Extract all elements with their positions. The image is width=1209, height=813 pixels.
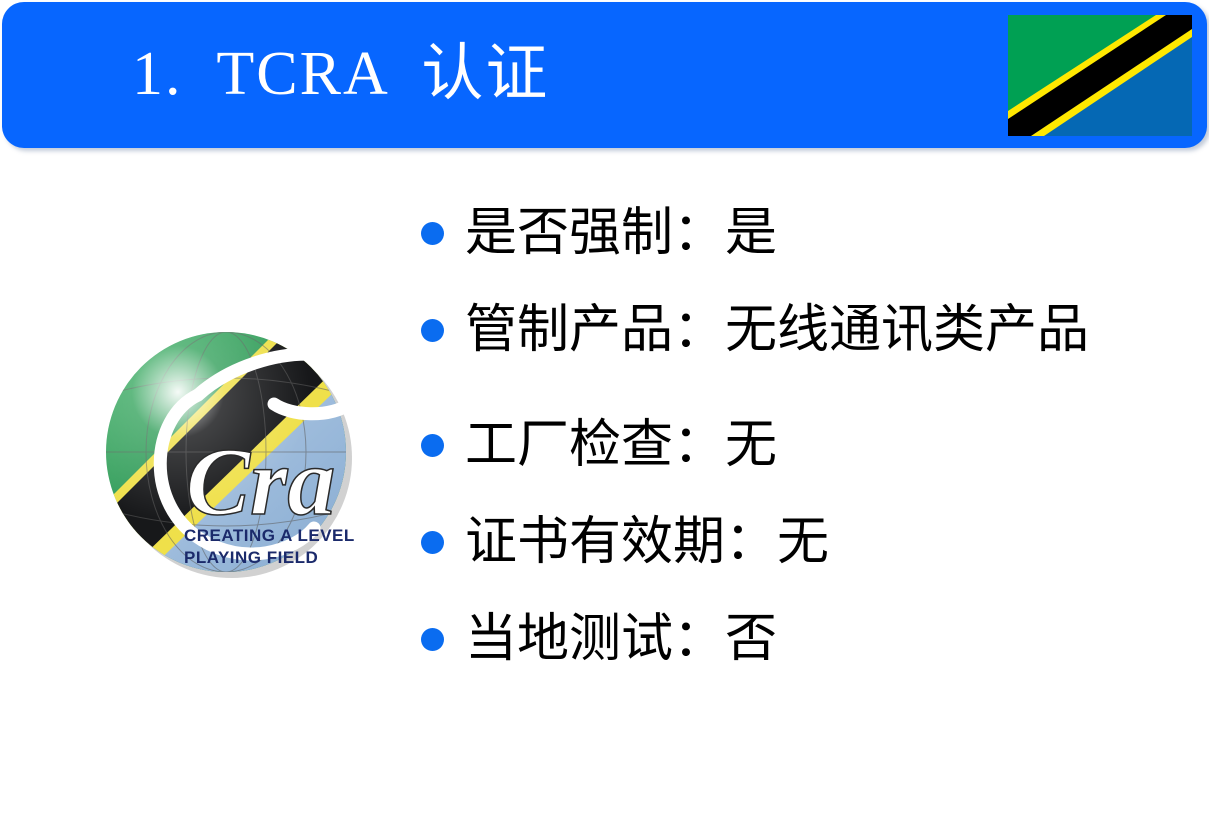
list-item: 工厂检查：无	[415, 408, 1195, 483]
list-item-label: 管制产品：无线通讯类产品	[465, 293, 1195, 368]
logo-wordmark: Cra	[186, 428, 335, 535]
list-item-label: 证书有效期：无	[465, 505, 1195, 580]
bullet-dot-icon	[421, 531, 444, 554]
list-item-label: 工厂检查：无	[465, 408, 1195, 483]
tcra-logo-image: Cra CREATING A LEVEL PLAYING FIELD	[78, 300, 388, 600]
list-item-label: 是否强制：是	[465, 196, 1195, 271]
logo-tagline-line1: CREATING A LEVEL	[184, 526, 355, 545]
list-item: 管制产品：无线通讯类产品	[415, 293, 1195, 368]
list-item: 证书有效期：无	[415, 505, 1195, 580]
bullet-dot-icon	[421, 434, 444, 457]
bullet-list: 是否强制：是 管制产品：无线通讯类产品 工厂检查：无 证书有效期：无 当地测试：…	[415, 196, 1195, 699]
bullet-dot-icon	[421, 222, 444, 245]
list-item: 当地测试：否	[415, 602, 1195, 677]
list-item: 是否强制：是	[415, 196, 1195, 271]
slide-title-bar: 1. TCRA 认证	[2, 2, 1207, 148]
tanzania-flag-image	[1008, 15, 1192, 136]
list-item-label: 当地测试：否	[465, 602, 1195, 677]
page-title: 1. TCRA 认证	[132, 32, 549, 116]
bullet-dot-icon	[421, 628, 444, 651]
bullet-dot-icon	[421, 319, 444, 342]
logo-tagline-line2: PLAYING FIELD	[184, 548, 318, 567]
